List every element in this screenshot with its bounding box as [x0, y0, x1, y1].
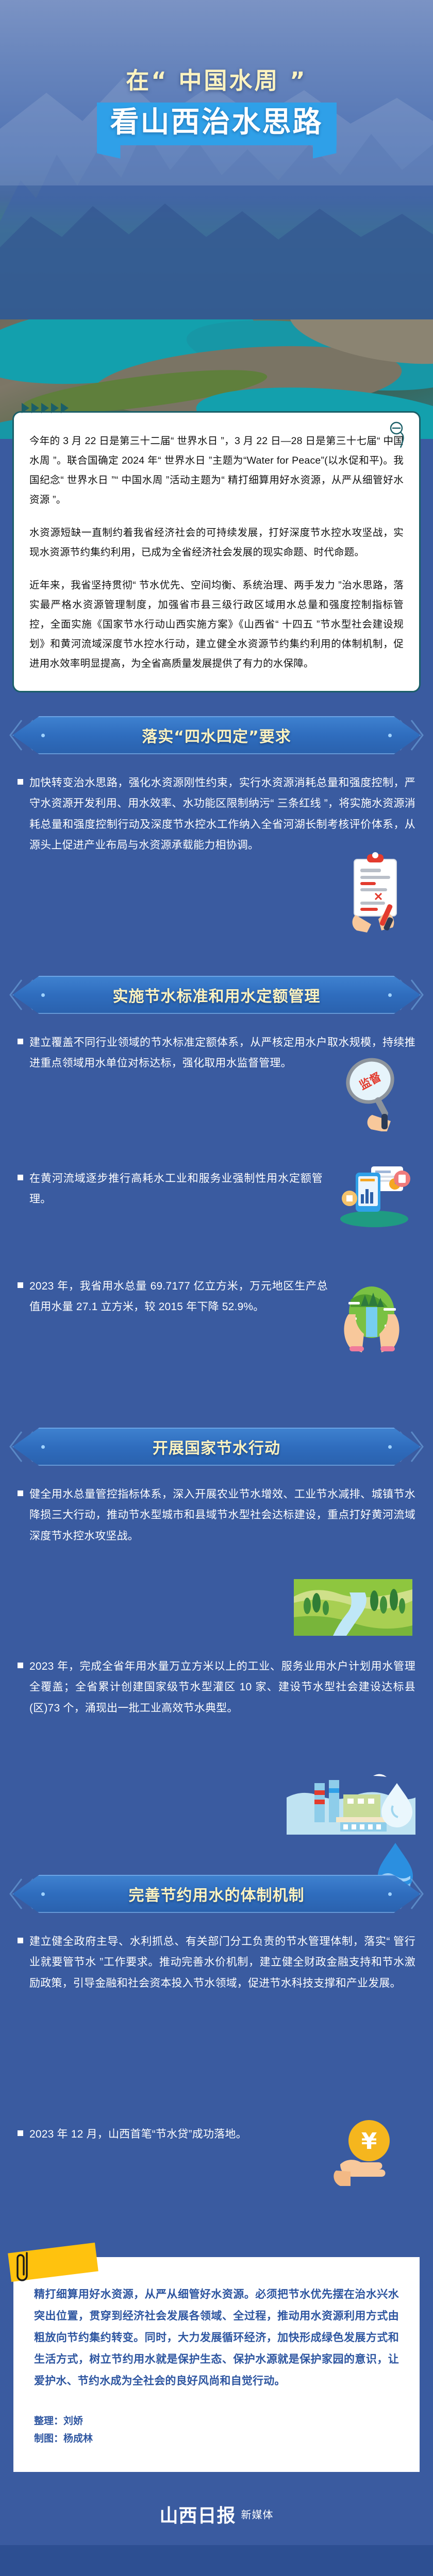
banner-dot-right-icon	[388, 1892, 392, 1896]
bullet-text: 建立健全政府主导、水利抓总、有关部门分工负责的节水管理体制，落实“ 管行业就要管…	[29, 1931, 415, 1994]
section-bullets: 加快转变治水思路，强化水资源刚性约束，实行水资源消耗总量和强度控制，严守水资源开…	[0, 759, 433, 947]
poster-root: 在“ 中国水周 ” 看山西治水思路	[0, 0, 433, 2545]
section-banner: 完善节约用水的体制机制	[12, 1875, 421, 1913]
bullet-item: 健全用水总量管控指标体系，深入开展农业节水增效、工业节水减排、城镇节水降损三大行…	[18, 1484, 415, 1639]
banner-dot-left-icon	[41, 993, 45, 997]
banner-dot-right-icon	[388, 1445, 392, 1449]
bullet-marker-icon	[18, 1490, 23, 1496]
bullet-item: 建立覆盖不同行业领域的节水标准定额体系，从严核定用水户取水规模，持续推进重点领域…	[18, 1032, 415, 1151]
section-banner: 落实“四水四定”要求	[12, 716, 421, 754]
section-banner-wrap: 实施节水标准和用水定额管理	[0, 952, 433, 1019]
intro-paragraph-1: 今年的 3 月 22 日是第三十二届“ 世界水日 ”，3 月 22 日—28 日…	[29, 431, 404, 510]
section-heading: 落实“四水四定”要求	[142, 724, 291, 747]
hero-title-banner: 看山西治水思路	[97, 103, 337, 145]
magnifier-icon	[387, 421, 410, 448]
conclusion-wrap: 精打细算用好水资源，从严从细管好水资源。必须把节水优先摆在治水兴水突出位置，贯穿…	[0, 2236, 433, 2487]
bullet-item: 2023 年 12 月，山西首笔“节水贷”成功落地。 ¥	[18, 2124, 415, 2212]
section-bullets: 健全用水总量管控指标体系，深入开展农业节水增效、工业节水减排、城镇节水降损三大行…	[0, 1471, 433, 1846]
banner-dot-right-icon	[388, 734, 392, 737]
bullet-text: 2023 年 12 月，山西首笔“节水贷”成功落地。	[29, 2124, 415, 2145]
bullet-item: 加快转变治水思路，强化水资源刚性约束，实行水资源消耗总量和强度控制，严守水资源开…	[18, 773, 415, 927]
bullet-text: 2023 年，我省用水总量 69.7177 亿立方米，万元地区生产总值用水量 2…	[29, 1276, 415, 1318]
conclusion-card: 精打细算用好水资源，从严从细管好水资源。必须把节水优先摆在治水兴水突出位置，贯穿…	[13, 2257, 420, 2471]
hero-title-line1: 在“ 中国水周 ”	[0, 62, 433, 95]
credit-designer: 制图：杨成林	[34, 2430, 399, 2448]
bullet-text: 在黄河流域逐步推行高耗水工业和服务业强制性用水定额管理。	[29, 1168, 415, 1210]
bullet-item: 在黄河流域逐步推行高耗水工业和服务业强制性用水定额管理。	[18, 1168, 415, 1259]
bullet-text: 加快转变治水思路，强化水资源刚性约束，实行水资源消耗总量和强度控制，严守水资源开…	[29, 773, 415, 856]
bullet-text: 2023 年，完成全省年用水量万立方米以上的工业、服务业用水户计划用水管理全覆盖…	[29, 1656, 415, 1719]
section-heading: 实施节水标准和用水定额管理	[113, 984, 321, 1006]
bullet-marker-icon	[18, 1282, 23, 1288]
section-banner-wrap: 落实“四水四定”要求	[0, 692, 433, 759]
intro-paragraph-2: 水资源短缺一直制约着我省经济社会的可持续发展，打好深度节水控水攻坚战，实现水资源…	[29, 523, 404, 562]
footer: 山西日报 新媒体	[0, 2487, 433, 2545]
arrow-icon	[22, 403, 29, 413]
bullet-marker-icon	[18, 2130, 23, 2136]
mountain-silhouette-icon	[0, 0, 433, 319]
section-jie-shui-biao-zhun: 实施节水标准和用水定额管理 建立覆盖不同行业领域的节水标准定额体系，从严核定用水…	[0, 952, 433, 1404]
bullet-item: 2023 年，完成全省年用水量万立方米以上的工业、服务业用水户计划用水管理全覆盖…	[18, 1656, 415, 1826]
arrow-icon	[51, 403, 59, 413]
bullet-item: 2023 年，我省用水总量 69.7177 亿立方米，万元地区生产总值用水量 2…	[18, 1276, 415, 1379]
section-bullets: 建立覆盖不同行业领域的节水标准定额体系，从严核定用水户取水规模，持续推进重点领域…	[0, 1019, 433, 1399]
credit-editor: 整理：刘娇	[34, 2413, 399, 2430]
factory-waterdrop-icon	[287, 1768, 415, 1835]
hero-title-line2: 看山西治水思路	[110, 107, 323, 139]
banner-dot-left-icon	[41, 1892, 45, 1896]
green-field-river-icon	[294, 1579, 412, 1636]
section-heading: 开展国家节水行动	[153, 1435, 280, 1458]
bullet-text: 建立覆盖不同行业领域的节水标准定额体系，从严核定用水户取水规模，持续推进重点领域…	[29, 1032, 415, 1074]
bullet-marker-icon	[18, 1938, 23, 1943]
arrow-icon	[41, 403, 49, 413]
section-bullets: 建立健全政府主导、水利抓总、有关部门分工负责的节水管理体制，落实“ 管行业就要管…	[0, 1918, 433, 2231]
intro-card-wrap: 今年的 3 月 22 日是第三十二届“ 世界水日 ”，3 月 22 日—28 日…	[0, 403, 433, 692]
publisher-sub: 新媒体	[241, 2506, 274, 2521]
banner-dot-left-icon	[41, 1445, 45, 1449]
arrow-icon	[61, 403, 69, 413]
credits-block: 整理：刘娇 制图：杨成林	[34, 2413, 399, 2448]
paperclip-icon	[15, 2250, 34, 2287]
section-heading: 完善节约用水的体制机制	[129, 1883, 305, 1905]
section-banner-wrap: 开展国家节水行动	[0, 1404, 433, 1471]
clipboard-checklist-icon	[336, 850, 413, 933]
section-banner-wrap: 完善节约用水的体制机制	[0, 1851, 433, 1918]
section-banner: 实施节水标准和用水定额管理	[12, 976, 421, 1014]
section-ti-zhi-ji-zhi: 完善节约用水的体制机制 建立健全政府主导、水利抓总、有关部门分工负责的节水管理体…	[0, 1851, 433, 2236]
hero-banner: 在“ 中国水周 ” 看山西治水思路	[0, 0, 433, 319]
arrow-decoration	[22, 403, 421, 413]
section-si-shui-si-ding: 落实“四水四定”要求 加快转变治水思路，强化水资源刚性约束，实行水资源消耗总量和…	[0, 692, 433, 952]
bullet-marker-icon	[18, 1039, 23, 1044]
publisher-logo: 山西日报	[159, 2501, 236, 2528]
bullet-marker-icon	[18, 779, 23, 785]
section-guo-jia-jie-shui-xing-dong: 开展国家节水行动 健全用水总量管控指标体系，深入开展农业节水增效、工业节水减排、…	[0, 1404, 433, 1851]
section-banner: 开展国家节水行动	[12, 1428, 421, 1466]
bullet-marker-icon	[18, 1175, 23, 1180]
banner-dot-left-icon	[41, 734, 45, 737]
banner-dot-right-icon	[388, 993, 392, 997]
arrow-icon	[31, 403, 39, 413]
bullet-text: 健全用水总量管控指标体系，深入开展农业节水增效、工业节水减排、城镇节水降损三大行…	[29, 1484, 415, 1547]
hero-title-block: 在“ 中国水周 ” 看山西治水思路	[0, 62, 433, 145]
bullet-item: 建立健全政府主导、水利抓总、有关部门分工负责的节水管理体制，落实“ 管行业就要管…	[18, 1931, 415, 2107]
intro-paragraph-3: 近年来，我省坚持贯彻“ 节水优先、空间均衡、系统治理、两手发力 ”治水思路，落实…	[29, 575, 404, 673]
intro-card: 今年的 3 月 22 日是第三十二届“ 世界水日 ”，3 月 22 日—28 日…	[12, 411, 421, 692]
conclusion-paragraph: 精打细算用好水资源，从严从细管好水资源。必须把节水优先摆在治水兴水突出位置，贯穿…	[34, 2284, 399, 2392]
bullet-marker-icon	[18, 1663, 23, 1668]
